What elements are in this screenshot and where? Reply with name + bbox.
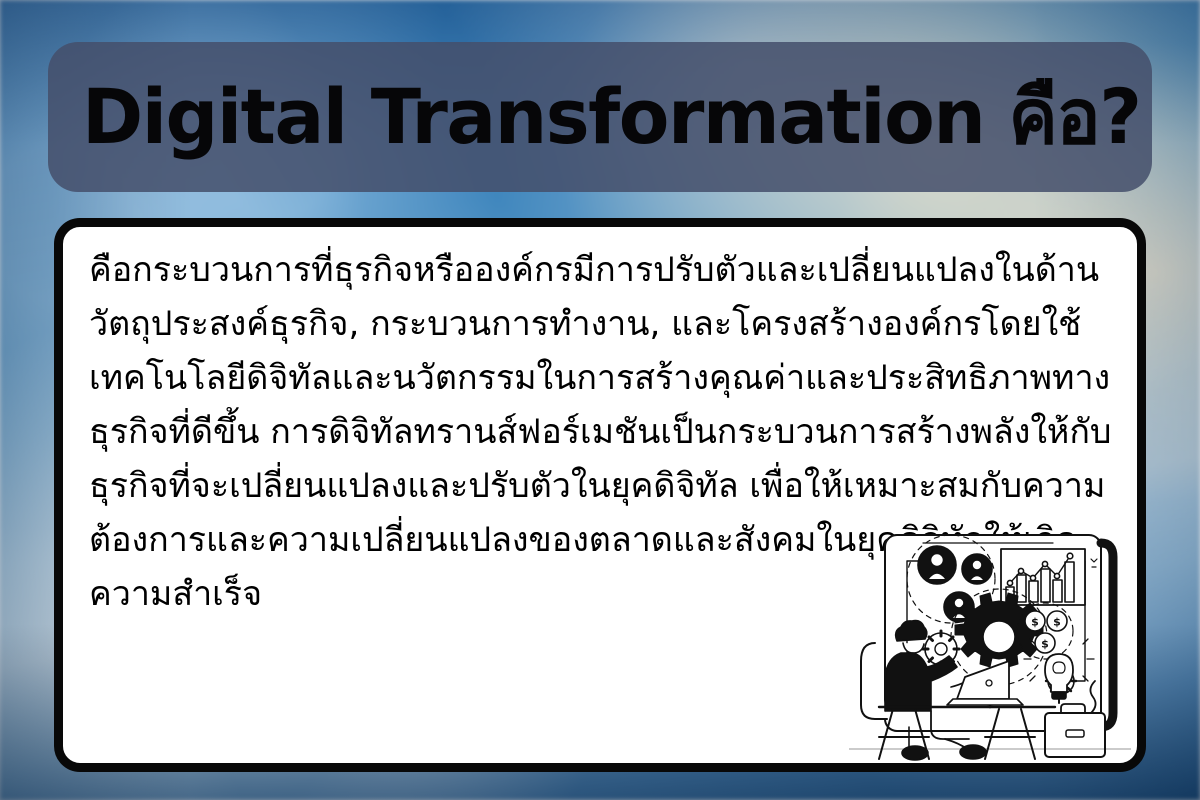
poster-canvas: Digital Transformation คือ? คือกระบวนการ…	[0, 0, 1200, 800]
page-title: Digital Transformation คือ?	[82, 79, 1141, 155]
body-paragraph: คือกระบวนการที่ธุรกิจหรือองค์กรมีการปรับ…	[89, 243, 1119, 621]
plant-squiggle	[1088, 681, 1096, 727]
title-banner: Digital Transformation คือ?	[48, 42, 1152, 192]
briefcase-icon	[1045, 704, 1105, 757]
lightbulb-icon	[1024, 639, 1094, 703]
body-card: คือกระบวนการที่ธุรกิจหรือองค์กรมีการปรับ…	[54, 218, 1146, 772]
svg-text:$: $	[1041, 638, 1049, 651]
person-at-desk	[861, 621, 1055, 760]
small-gears	[923, 631, 1076, 707]
